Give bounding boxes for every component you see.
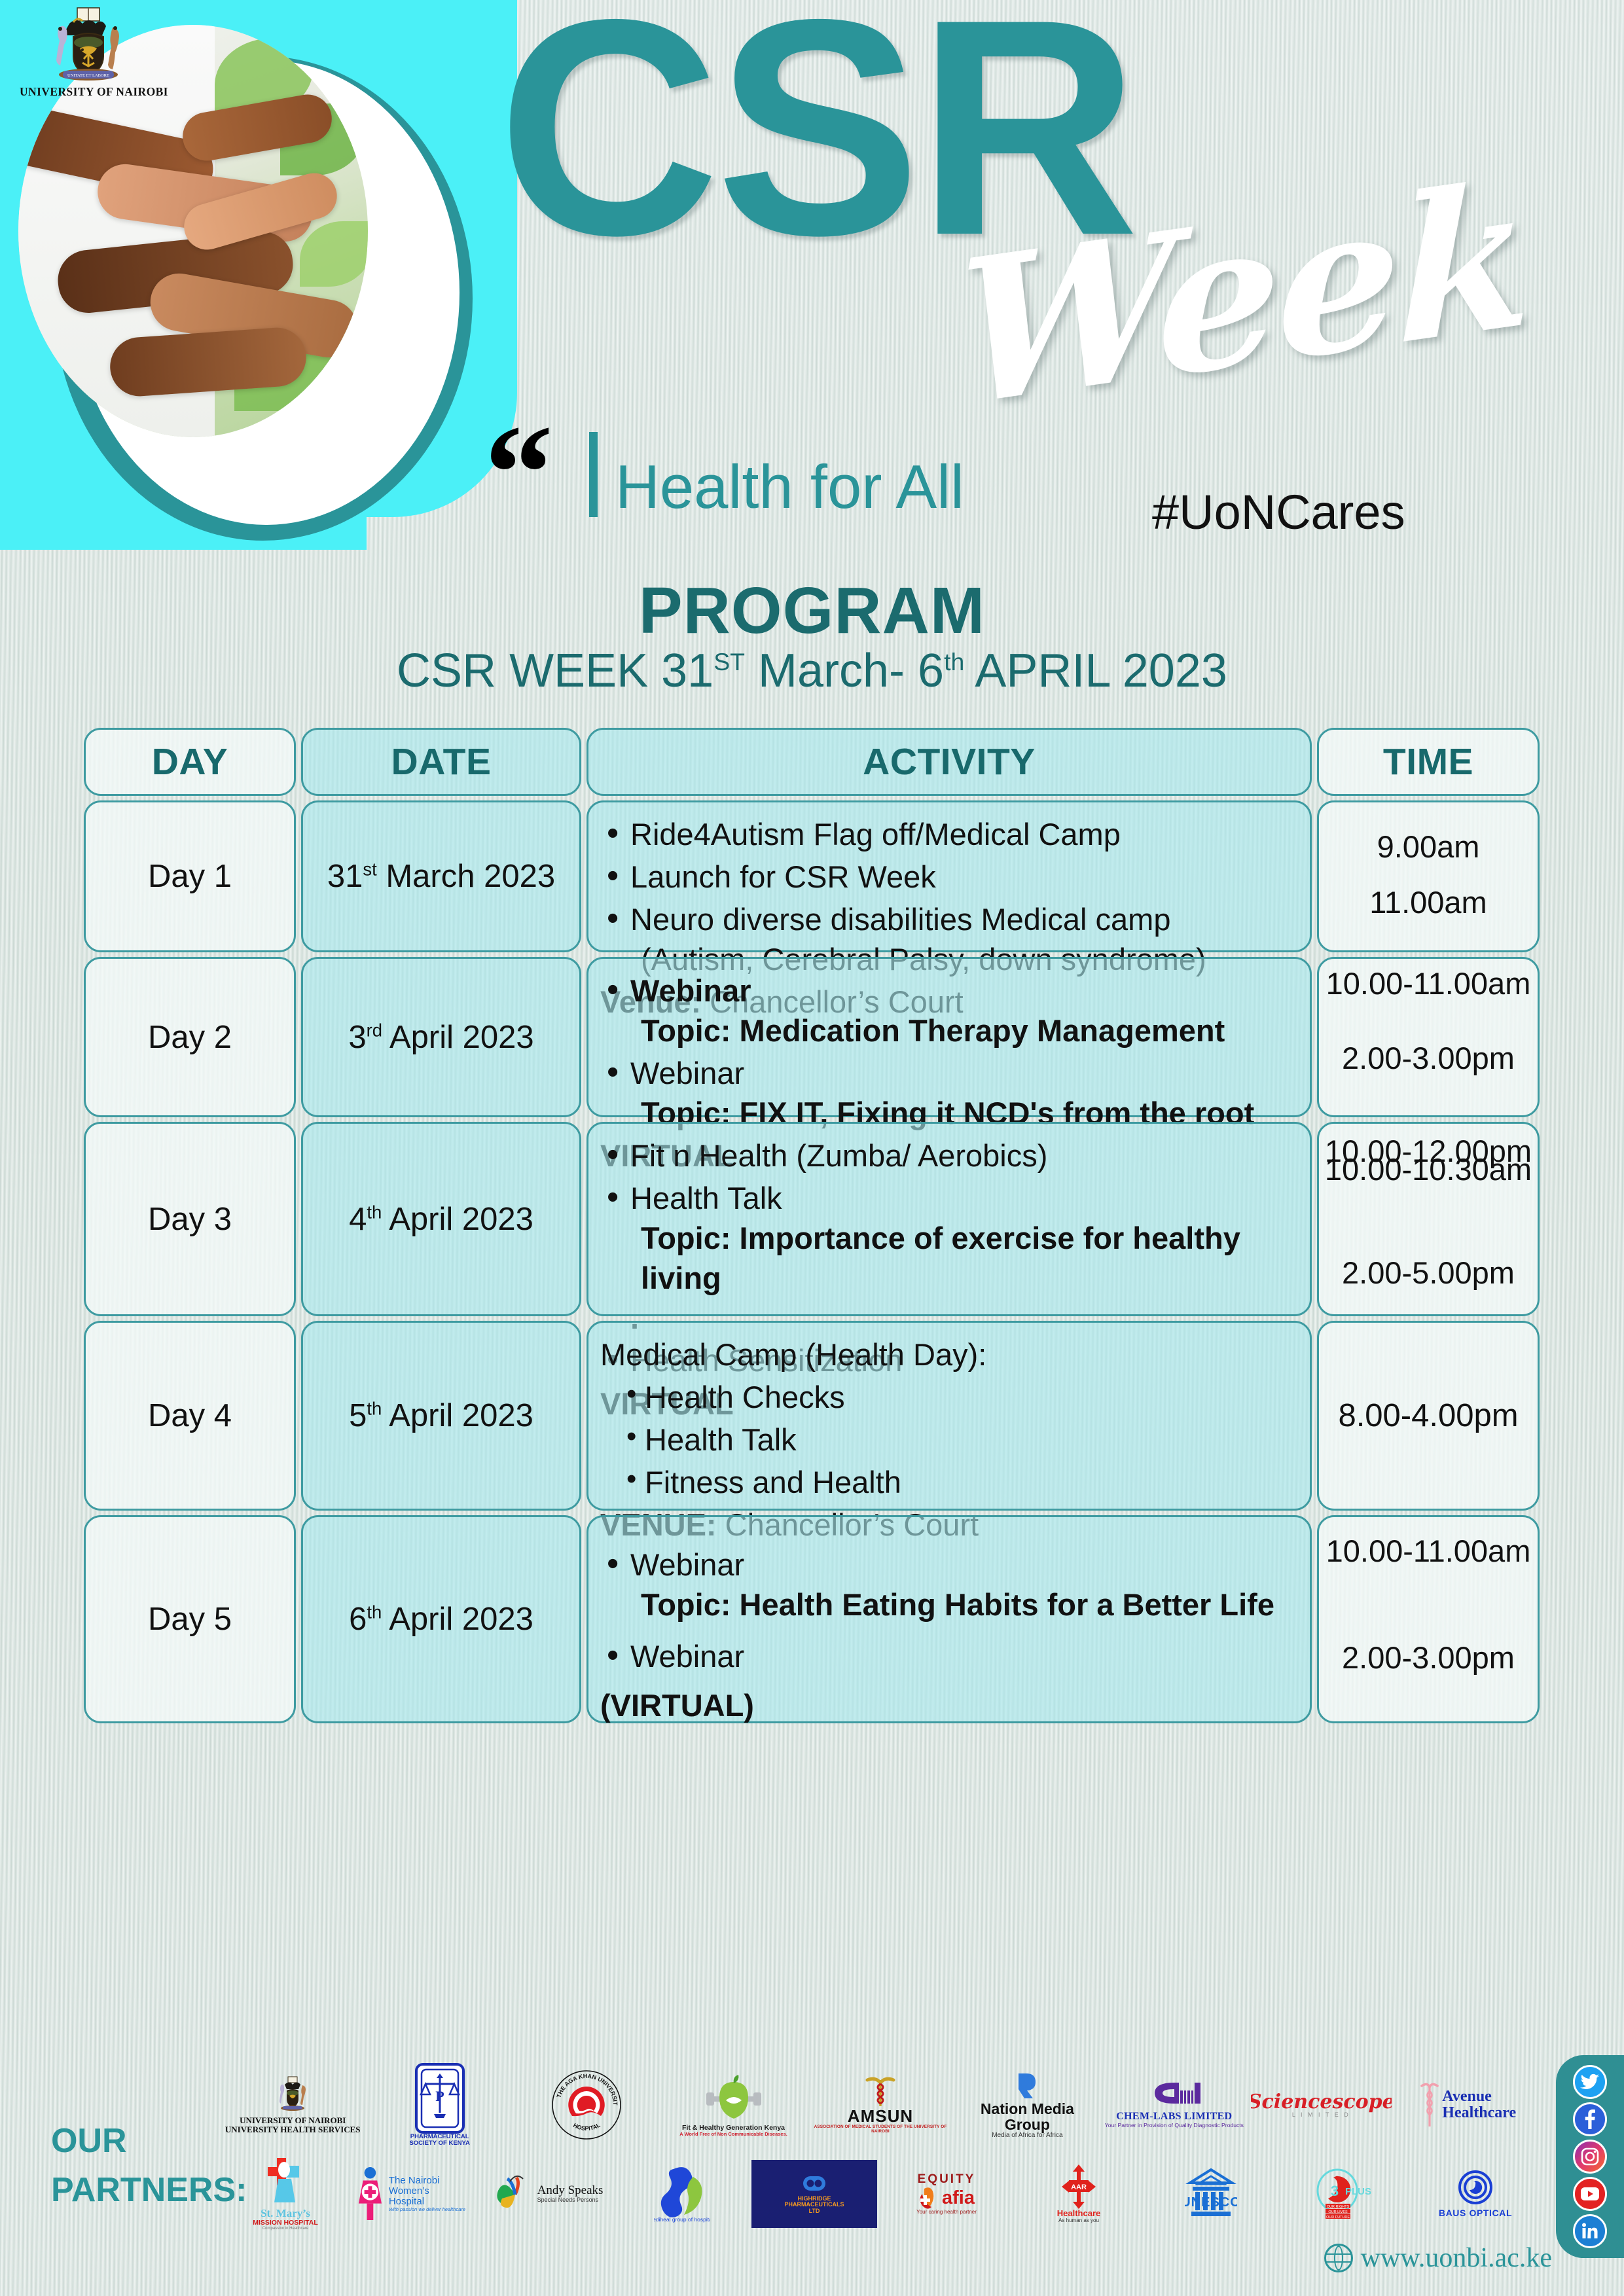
cell-activity: Ride4Autism Flag off/Medical Camp Launch… — [586, 800, 1312, 952]
partner-name-line2: ASSOCIATION OF MEDICAL STUDENTS OF THE U… — [810, 2125, 950, 2134]
time-value: 2.00-5.00pm — [1323, 1255, 1534, 1291]
program-date-range: CSR WEEK 31ST March- 6th APRIL 2023 — [0, 644, 1624, 698]
time-value: 10.00-10.30am — [1323, 1151, 1534, 1187]
partner-name-line1: CHEM-LABS LIMITED — [1116, 2111, 1232, 2123]
list-item: Health Checks — [623, 1377, 1298, 1417]
partners-label-line1: OUR — [51, 2117, 247, 2166]
svg-text:PLUS: PLUS — [1345, 2186, 1371, 2197]
column-header-day: DAY — [84, 728, 296, 796]
svg-text:HOSPITAL: HOSPITAL — [572, 2121, 602, 2132]
globe-icon — [1324, 2244, 1353, 2272]
apple-dumbbell-icon — [705, 2073, 763, 2124]
partner-logo-equity-afia: EQUITY afia Your caring health partner — [884, 2148, 1009, 2240]
list-item: Launch for CSR Week — [600, 857, 1298, 897]
cell-day: Day 4 — [84, 1321, 296, 1511]
partner-logo-st-marys: St. Mary’s MISSION HOSPITAL Compassion i… — [223, 2148, 348, 2240]
aga-khan-hospital-icon: THE AGA KHAN UNIVERSITY HOSPITAL — [550, 2069, 623, 2141]
website-url: www.uonbi.ac.ke — [1361, 2242, 1552, 2274]
partner-name-line1: UNIVERSITY OF NAIROBI — [240, 2116, 346, 2125]
partner-name-line2: SOCIETY OF KENYA — [409, 2140, 469, 2147]
page-title: PROGRAM — [0, 573, 1624, 649]
svg-text:mediheal group of hospitals: mediheal group of hospitals — [654, 2216, 710, 2223]
partners-label: OUR PARTNERS: — [51, 2117, 247, 2215]
linkedin-icon[interactable] — [1573, 2214, 1607, 2248]
program-sub-mid: March- 6 — [745, 645, 944, 697]
time-value: 10.00-11.00am — [1323, 965, 1534, 1001]
quote-divider — [589, 432, 598, 517]
partner-logo-aga-khan: THE AGA KHAN UNIVERSITY HOSPITAL — [516, 2062, 657, 2148]
partner-logo-3-plus: 3 PLUS OUR RIGHTS OUR LIVES OUR FUTURE — [1280, 2148, 1406, 2240]
aar-arrows-icon: AAR — [1062, 2164, 1096, 2209]
list-item: Fitness and Health — [623, 1462, 1298, 1502]
highridge-mark-icon — [801, 2174, 827, 2196]
partner-name-line2: Media of Africa for Africa — [992, 2132, 1062, 2140]
cell-day: Day 5 — [84, 1515, 296, 1723]
scales-of-justice-icon: P — [414, 2063, 465, 2134]
website-link[interactable]: www.uonbi.ac.ke — [1324, 2242, 1552, 2274]
cell-date: 5th April 2023 — [301, 1321, 581, 1511]
date-text: 6th April 2023 — [349, 1601, 533, 1638]
partner-logo-aar-healthcare: AAR Healthcare As human as you — [1016, 2148, 1142, 2240]
partner-name-line2: Healthcare — [1057, 2209, 1100, 2218]
partner-name-line2: Hospital — [389, 2197, 480, 2207]
partner-logo-psk: P PHARMACEUTICAL SOCIETY OF KENYA — [369, 2062, 509, 2148]
cell-date: 4th April 2023 — [301, 1122, 581, 1316]
partner-name-line1: The Nairobi Women’s — [389, 2176, 480, 2197]
twitter-icon[interactable] — [1573, 2065, 1607, 2099]
partner-name-line3: Your caring health partner — [916, 2210, 977, 2215]
activity-list: WebinarTopic: Health Eating Habits for a… — [600, 1545, 1298, 1676]
partner-name-line1: EQUITY — [918, 2173, 976, 2186]
chem-labs-icon — [1144, 2081, 1204, 2111]
svg-text:AAR: AAR — [1071, 2183, 1087, 2191]
partner-name-line2: Healthcare — [1442, 2105, 1516, 2121]
activity-list: Health Checks Health Talk Fitness and He… — [600, 1377, 1298, 1502]
partner-logo-unesco: UNESCO — [1148, 2148, 1274, 2240]
cell-time: 10.00-11.00am 2.00-3.00pm — [1317, 957, 1540, 1117]
partner-name-line2: A World Free of Non Communicable Disease… — [679, 2132, 787, 2137]
list-item: Webinar — [600, 1636, 1298, 1676]
column-header-date: DATE — [301, 728, 581, 796]
partner-name-line3: As human as you — [1058, 2218, 1099, 2223]
mediheal-icon: mediheal group of hospitals — [654, 2164, 710, 2224]
table-header-row: DAY DATE ACTIVITY TIME — [84, 728, 1540, 796]
svg-text:P: P — [435, 2088, 444, 2104]
cell-activity: WebinarTopic: Health Eating Habits for a… — [586, 1515, 1312, 1723]
mode-label: (VIRTUAL) — [600, 1685, 1298, 1725]
cell-date: 31st March 2023 — [301, 800, 581, 952]
social-links-rail[interactable] — [1556, 2055, 1624, 2258]
table-row: Day 2 3rd April 2023 WebinarTopic: Medic… — [84, 957, 1540, 1117]
partner-logo-mediheal: mediheal group of hospitals — [619, 2148, 745, 2240]
svg-text:OUR RIGHTS: OUR RIGHTS — [1327, 2205, 1350, 2209]
table-row: Day 3 4th April 2023 Fit n Health (Zumba… — [84, 1122, 1540, 1316]
university-of-nairobi-crest: UNITATE ET LABORE UNIVERSITY OF NAIROBI — [20, 7, 157, 99]
hashtag: #UoNCares — [1152, 484, 1405, 540]
list-item: Ride4Autism Flag off/Medical Camp — [600, 814, 1298, 854]
program-table: DAY DATE ACTIVITY TIME Day 1 31st March … — [84, 728, 1540, 1728]
partner-name-line3: LTD — [809, 2208, 820, 2214]
cell-time: 10.00-11.00am 2.00-3.00pm — [1317, 1515, 1540, 1723]
partner-logo-chem-labs: CHEM-LABS LIMITED Your Partner in Provis… — [1104, 2062, 1244, 2148]
program-sub-prefix: CSR WEEK 31 — [397, 645, 713, 697]
partner-name-line2: MISSION HOSPITAL — [253, 2219, 318, 2227]
quote-icon: “ — [484, 432, 553, 514]
partner-name-line2: afia — [942, 2188, 975, 2208]
cell-day: Day 1 — [84, 800, 296, 952]
list-item: WebinarTopic: Health Eating Habits for a… — [600, 1545, 1298, 1624]
partner-name-line2: UNIVERSITY HEALTH SERVICES — [225, 2125, 361, 2134]
partner-logo-amsun: AMSUN ASSOCIATION OF MEDICAL STUDENTS OF… — [810, 2062, 950, 2148]
youtube-icon[interactable] — [1573, 2177, 1607, 2211]
crest-icon: UNITATE ET LABORE — [39, 7, 137, 84]
table-row: Day 4 5th April 2023 Medical Camp (Healt… — [84, 1321, 1540, 1511]
list-item: Health Talk — [623, 1420, 1298, 1460]
partner-logo-baus-optical: BAUS OPTICAL — [1413, 2148, 1538, 2240]
partner-name-line2: Special Needs Persons — [537, 2197, 604, 2203]
partner-name-line1: Nation Media Group — [957, 2101, 1097, 2132]
list-item: WebinarTopic: Medication Therapy Managem… — [600, 971, 1298, 1050]
partner-name-line3: Compassion in Healthcare — [262, 2227, 308, 2231]
program-sub-suffix: APRIL 2023 — [964, 645, 1227, 697]
date-text: 31st March 2023 — [327, 858, 555, 895]
time-value: 8.00-4.00pm — [1338, 1397, 1518, 1434]
uon-crest-icon — [274, 2076, 311, 2114]
cell-time: 9.00am 11.00am — [1317, 800, 1540, 952]
partner-logo-fit-healthy-generation: Fit & Healthy Generation Kenya A World F… — [663, 2062, 803, 2148]
cell-date: 6th April 2023 — [301, 1515, 581, 1723]
three-plus-icon: 3 PLUS OUR RIGHTS OUR LIVES OUR FUTURE — [1315, 2167, 1371, 2221]
partner-logo-sciencescope: Sciencescope L I M I T E D — [1251, 2062, 1391, 2148]
date-text: 5th April 2023 — [349, 1397, 533, 1434]
partner-name-line1: Andy Speaks — [537, 2184, 604, 2197]
time-value: 9.00am — [1326, 829, 1531, 865]
activity-list: WebinarTopic: Medication Therapy Managem… — [600, 971, 1298, 1133]
partner-logos: UNIVERSITY OF NAIROBI UNIVERSITY HEALTH … — [223, 2062, 1538, 2240]
caduceus-icon — [865, 2076, 895, 2108]
facebook-icon[interactable] — [1573, 2102, 1607, 2136]
program-sub-sup2: th — [944, 648, 964, 675]
partner-logo-row-1: UNIVERSITY OF NAIROBI UNIVERSITY HEALTH … — [223, 2062, 1538, 2148]
afia-heart-icon — [918, 2186, 941, 2210]
nation-media-icon — [1013, 2071, 1041, 2101]
cell-activity: WebinarTopic: Medication Therapy Managem… — [586, 957, 1312, 1117]
table-row: Day 1 31st March 2023 Ride4Autism Flag o… — [84, 800, 1540, 952]
instagram-icon[interactable] — [1573, 2140, 1607, 2174]
partner-name-line3: With passion we deliver healthcare — [389, 2207, 480, 2212]
cell-time: 8.00-4.00pm — [1317, 1321, 1540, 1511]
partner-name-line2: Your Partner in Provision of Quality Dia… — [1105, 2123, 1244, 2128]
butterfly-icon — [497, 2174, 535, 2214]
partner-logo-highridge-pharmaceuticals: HIGHRIDGE PHARMACEUTICALS LTD — [751, 2160, 877, 2228]
partners-label-line2: PARTNERS: — [51, 2166, 247, 2215]
cell-time: 10.00-12.00pm 10.00-10.30am 2.00-5.00pm — [1317, 1122, 1540, 1316]
cell-day: Day 2 — [84, 957, 296, 1117]
svg-text:OUR FUTURE: OUR FUTURE — [1326, 2215, 1350, 2219]
activity-list: Ride4Autism Flag off/Medical Camp Launch… — [600, 814, 1298, 979]
cell-activity: Fit n Health (Zumba/ Aerobics) Health Ta… — [586, 1122, 1312, 1316]
table-row: Day 5 6th April 2023 WebinarTopic: Healt… — [84, 1515, 1540, 1723]
svg-text:UNESCO: UNESCO — [1185, 2195, 1237, 2210]
cell-activity: Medical Camp (Health Day): Health Checks… — [586, 1321, 1312, 1511]
caduceus-pink-icon — [1420, 2081, 1439, 2129]
unesco-temple-icon: UNESCO — [1185, 2168, 1237, 2219]
column-header-activity: ACTIVITY — [586, 728, 1312, 796]
list-item: Fit n Health (Zumba/ Aerobics) — [600, 1136, 1298, 1175]
svg-text:3: 3 — [1331, 2183, 1339, 2199]
partner-name-line1: BAUS OPTICAL — [1439, 2208, 1512, 2218]
list-item: Health TalkTopic: Importance of exercise… — [600, 1178, 1298, 1338]
time-value: 11.00am — [1326, 884, 1531, 920]
partner-logo-uon-health: UNIVERSITY OF NAIROBI UNIVERSITY HEALTH … — [223, 2062, 363, 2148]
svg-text:UNITATE ET LABORE: UNITATE ET LABORE — [67, 73, 109, 78]
partner-name-line1: Sciencescope — [1251, 2092, 1391, 2113]
partner-logo-nation-media-group: Nation Media Group Media of Africa for A… — [957, 2062, 1097, 2148]
partner-logo-row-2: St. Mary’s MISSION HOSPITAL Compassion i… — [223, 2148, 1538, 2240]
partner-name-line2: L I M I T E D — [1292, 2112, 1350, 2118]
partner-logo-nairobi-womens-hospital: The Nairobi Women’s Hospital With passio… — [355, 2148, 480, 2240]
cell-day: Day 3 — [84, 1122, 296, 1316]
time-value: 2.00-3.00pm — [1323, 1040, 1534, 1076]
cross-nurse-icon — [264, 2157, 307, 2208]
poster-canvas: UNITATE ET LABORE UNIVERSITY OF NAIROBI … — [0, 0, 1624, 2296]
activity-intro: Medical Camp (Health Day): — [600, 1335, 1298, 1374]
woman-cross-icon — [355, 2166, 386, 2222]
cell-date: 3rd April 2023 — [301, 957, 581, 1117]
tagline: Health for All — [615, 452, 964, 522]
date-text: 4th April 2023 — [349, 1201, 533, 1238]
partner-name-line1: St. Mary’s — [261, 2208, 310, 2219]
partner-name-line1: Avenue — [1442, 2089, 1516, 2105]
partner-logo-andy-speaks: Andy Speaks Special Needs Persons — [487, 2148, 613, 2240]
column-header-time: TIME — [1317, 728, 1540, 796]
svg-text:OUR LIVES: OUR LIVES — [1328, 2210, 1348, 2214]
date-text: 3rd April 2023 — [348, 1019, 533, 1056]
time-value: 10.00-11.00am — [1323, 1533, 1534, 1569]
partner-logo-avenue-healthcare: Avenue Healthcare — [1398, 2062, 1538, 2148]
crest-caption: UNIVERSITY OF NAIROBI — [20, 85, 157, 99]
program-sub-sup1: ST — [713, 648, 745, 675]
eye-spiral-icon — [1456, 2170, 1494, 2208]
time-value: 2.00-3.00pm — [1323, 1640, 1534, 1676]
partner-name-line1: AMSUN — [848, 2108, 913, 2125]
